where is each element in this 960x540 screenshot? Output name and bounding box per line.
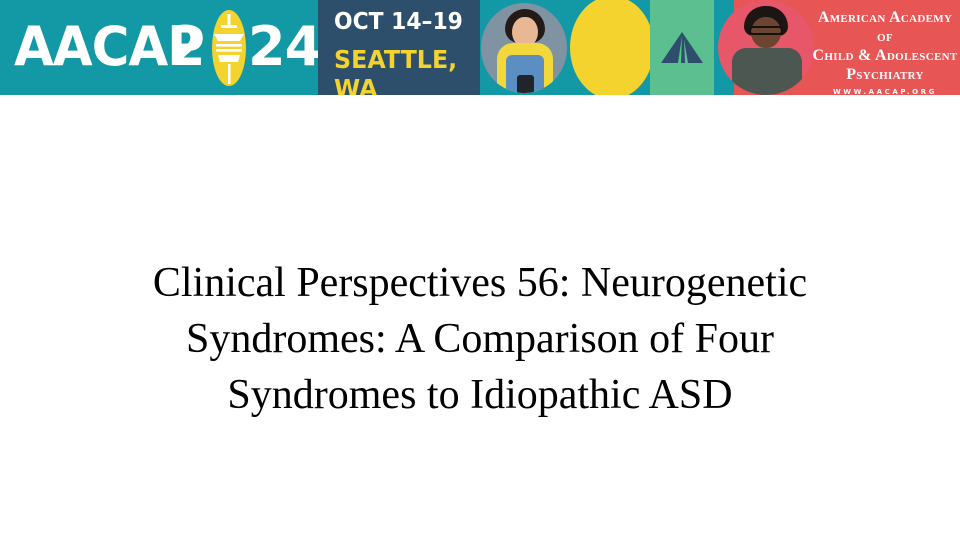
- org-website-url: WWW.AACAP.ORG: [810, 88, 960, 95]
- mountain-icon: [658, 30, 706, 65]
- green-panel: [650, 0, 714, 95]
- slide-title-line-1: Clinical Perspectives 56: Neurogenetic: [48, 255, 912, 311]
- space-needle-icon: [208, 8, 250, 88]
- organization-name: American Academy of Child & Adolescent P…: [810, 8, 960, 95]
- photo-detail-glasses: [749, 26, 783, 35]
- slide-title: Clinical Perspectives 56: Neurogenetic S…: [48, 255, 912, 423]
- conference-location: SEATTLE, WA: [334, 45, 473, 95]
- child-with-glasses-photo: [718, 0, 814, 95]
- date-location-block: OCT 14–19 SEATTLE, WA: [318, 0, 480, 95]
- photo-detail-phone: [517, 75, 534, 93]
- slide-content-area: Clinical Perspectives 56: Neurogenetic S…: [0, 95, 960, 540]
- aacap-logo-block: AACAP 2 24: [0, 0, 318, 95]
- conference-dates: OCT 14–19: [334, 9, 463, 35]
- organization-block: American Academy of Child & Adolescent P…: [714, 0, 960, 95]
- year-2: 2: [168, 12, 205, 82]
- banner-image-band: [480, 0, 714, 95]
- org-name-line-1: American Academy of: [810, 8, 960, 46]
- year-24: 24: [248, 12, 321, 82]
- person-with-phone-photo: [481, 3, 567, 93]
- org-name-line-2: Child & Adolescent: [810, 46, 960, 65]
- slide-title-line-2: Syndromes: A Comparison of Four: [48, 311, 912, 367]
- org-name-line-3: Psychiatry: [810, 65, 960, 84]
- yellow-oval-shape: [570, 0, 654, 95]
- photo-detail-sweater: [732, 48, 802, 95]
- conference-banner: AACAP 2 24 OCT 14–19 SEATTLE, WA: [0, 0, 960, 95]
- slide-title-line-3: Syndromes to Idiopathic ASD: [48, 367, 912, 423]
